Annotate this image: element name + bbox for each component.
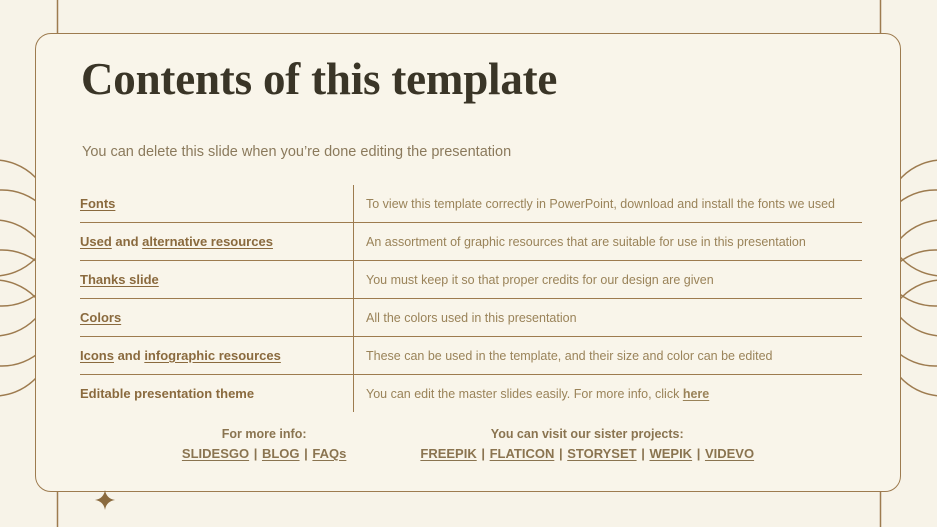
contents-table-body: FontsTo view this template correctly in … xyxy=(80,185,862,412)
table-cell-description: An assortment of graphic resources that … xyxy=(354,223,863,261)
footer-block: You can visit our sister projects:FREEPI… xyxy=(420,426,754,462)
footer-link[interactable]: FLATICON xyxy=(490,446,555,461)
table-row: Editable presentation themeYou can edit … xyxy=(80,375,862,413)
contents-table: FontsTo view this template correctly in … xyxy=(80,185,862,412)
footer-heading: For more info: xyxy=(182,426,346,443)
topic-link[interactable]: Icons xyxy=(80,348,114,363)
table-cell-description: These can be used in the template, and t… xyxy=(354,337,863,375)
footer-link[interactable]: FREEPIK xyxy=(420,446,476,461)
footer-link[interactable]: STORYSET xyxy=(567,446,636,461)
footer-link[interactable]: SLIDESGO xyxy=(182,446,249,461)
topic-text: and xyxy=(112,234,142,249)
footer-block: For more info:SLIDESGO | BLOG | FAQs xyxy=(182,426,346,462)
footer-separator: | xyxy=(249,446,262,461)
table-row: ColorsAll the colors used in this presen… xyxy=(80,299,862,337)
topic-text: and xyxy=(114,348,144,363)
table-cell-topic: Icons and infographic resources xyxy=(80,337,354,375)
footer-link-list: SLIDESGO | BLOG | FAQs xyxy=(182,445,346,463)
table-cell-topic: Fonts xyxy=(80,185,354,223)
table-row: Icons and infographic resourcesThese can… xyxy=(80,337,862,375)
page-title: Contents of this template xyxy=(81,56,557,103)
table-row: Thanks slideYou must keep it so that pro… xyxy=(80,261,862,299)
footer-link-list: FREEPIK | FLATICON | STORYSET | WEPIK | … xyxy=(420,445,754,463)
slide-content: Contents of this template You can delete… xyxy=(35,33,901,492)
table-cell-description: All the colors used in this presentation xyxy=(354,299,863,337)
table-cell-topic: Thanks slide xyxy=(80,261,354,299)
description-text: All the colors used in this presentation xyxy=(366,311,577,325)
description-text: An assortment of graphic resources that … xyxy=(366,235,806,249)
footer-separator: | xyxy=(637,446,650,461)
table-cell-topic: Colors xyxy=(80,299,354,337)
footer-link[interactable]: VIDEVO xyxy=(705,446,754,461)
topic-link[interactable]: Fonts xyxy=(80,196,115,211)
footer-link[interactable]: FAQs xyxy=(312,446,346,461)
topic-link[interactable]: infographic resources xyxy=(144,348,281,363)
table-cell-topic: Editable presentation theme xyxy=(80,375,354,413)
topic-link[interactable]: Used xyxy=(80,234,112,249)
description-text: You must keep it so that proper credits … xyxy=(366,273,714,287)
footer: For more info:SLIDESGO | BLOG | FAQsYou … xyxy=(35,426,901,462)
topic-link[interactable]: Thanks slide xyxy=(80,272,159,287)
sparkle-icon xyxy=(94,489,116,511)
description-text: You can edit the master slides easily. F… xyxy=(366,387,683,401)
topic-text: Editable presentation theme xyxy=(80,386,254,401)
footer-heading: You can visit our sister projects: xyxy=(420,426,754,443)
slide-canvas: Contents of this template You can delete… xyxy=(0,0,937,527)
topic-link[interactable]: alternative resources xyxy=(142,234,273,249)
footer-link[interactable]: WEPIK xyxy=(649,446,692,461)
footer-separator: | xyxy=(300,446,313,461)
footer-separator: | xyxy=(554,446,567,461)
footer-separator: | xyxy=(692,446,705,461)
table-cell-description: To view this template correctly in Power… xyxy=(354,185,863,223)
description-text: These can be used in the template, and t… xyxy=(366,349,773,363)
table-row: FontsTo view this template correctly in … xyxy=(80,185,862,223)
description-text: To view this template correctly in Power… xyxy=(366,197,835,211)
footer-link[interactable]: BLOG xyxy=(262,446,300,461)
description-link[interactable]: here xyxy=(683,387,709,401)
footer-separator: | xyxy=(477,446,490,461)
topic-link[interactable]: Colors xyxy=(80,310,121,325)
table-cell-description: You can edit the master slides easily. F… xyxy=(354,375,863,413)
table-cell-topic: Used and alternative resources xyxy=(80,223,354,261)
page-subtitle: You can delete this slide when you’re do… xyxy=(82,143,511,162)
table-row: Used and alternative resourcesAn assortm… xyxy=(80,223,862,261)
table-cell-description: You must keep it so that proper credits … xyxy=(354,261,863,299)
